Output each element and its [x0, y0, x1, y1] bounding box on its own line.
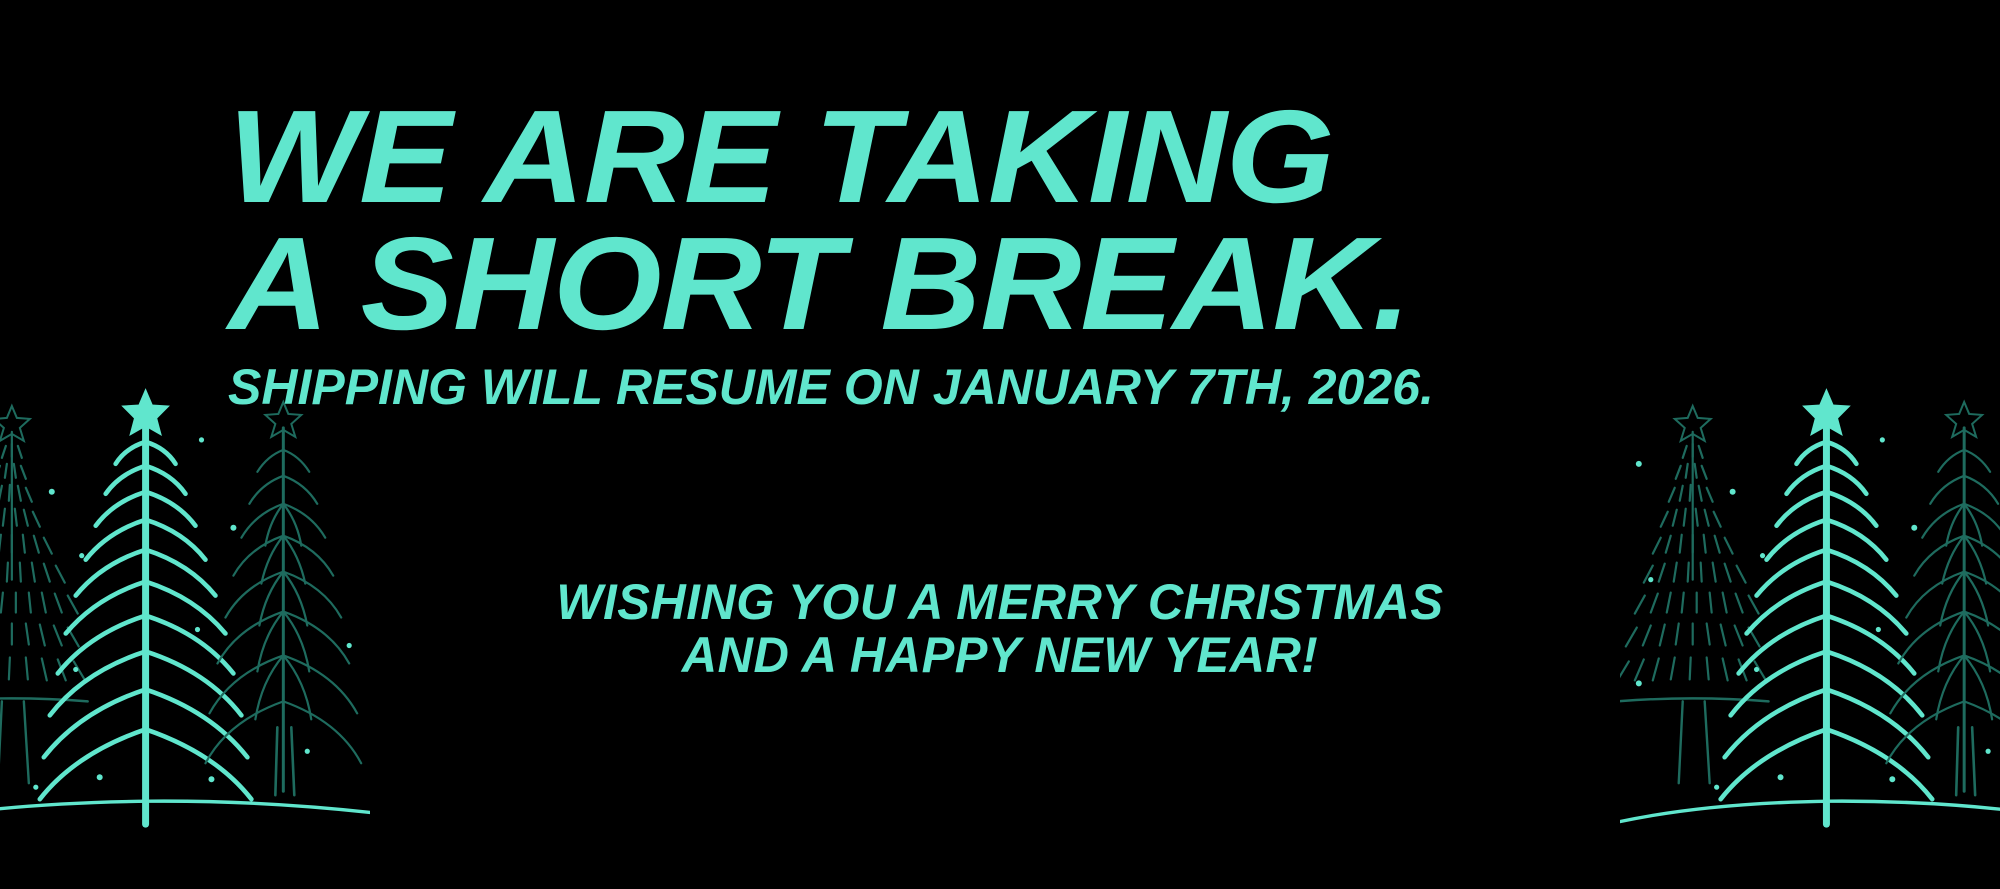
holiday-greeting-block: WISHING YOU A MERRY CHRISTMAS AND A HAPP…	[0, 576, 2000, 682]
headline-line-2: A SHORT BREAK.	[228, 223, 1850, 346]
greeting-line-1: WISHING YOU A MERRY CHRISTMAS	[20, 576, 1980, 629]
greeting-line-2: AND A HAPPY NEW YEAR!	[20, 629, 1980, 682]
ground-line	[0, 801, 370, 829]
headline-line-1: WE ARE TAKING	[228, 96, 1850, 219]
ground-line	[1620, 801, 2000, 831]
announcement-text-block: WE ARE TAKING A SHORT BREAK. SHIPPING WI…	[228, 96, 1758, 412]
shipping-resume-subtitle: SHIPPING WILL RESUME ON JANUARY 7TH, 202…	[228, 362, 1758, 412]
holiday-announcement-banner: WE ARE TAKING A SHORT BREAK. SHIPPING WI…	[0, 0, 2000, 889]
